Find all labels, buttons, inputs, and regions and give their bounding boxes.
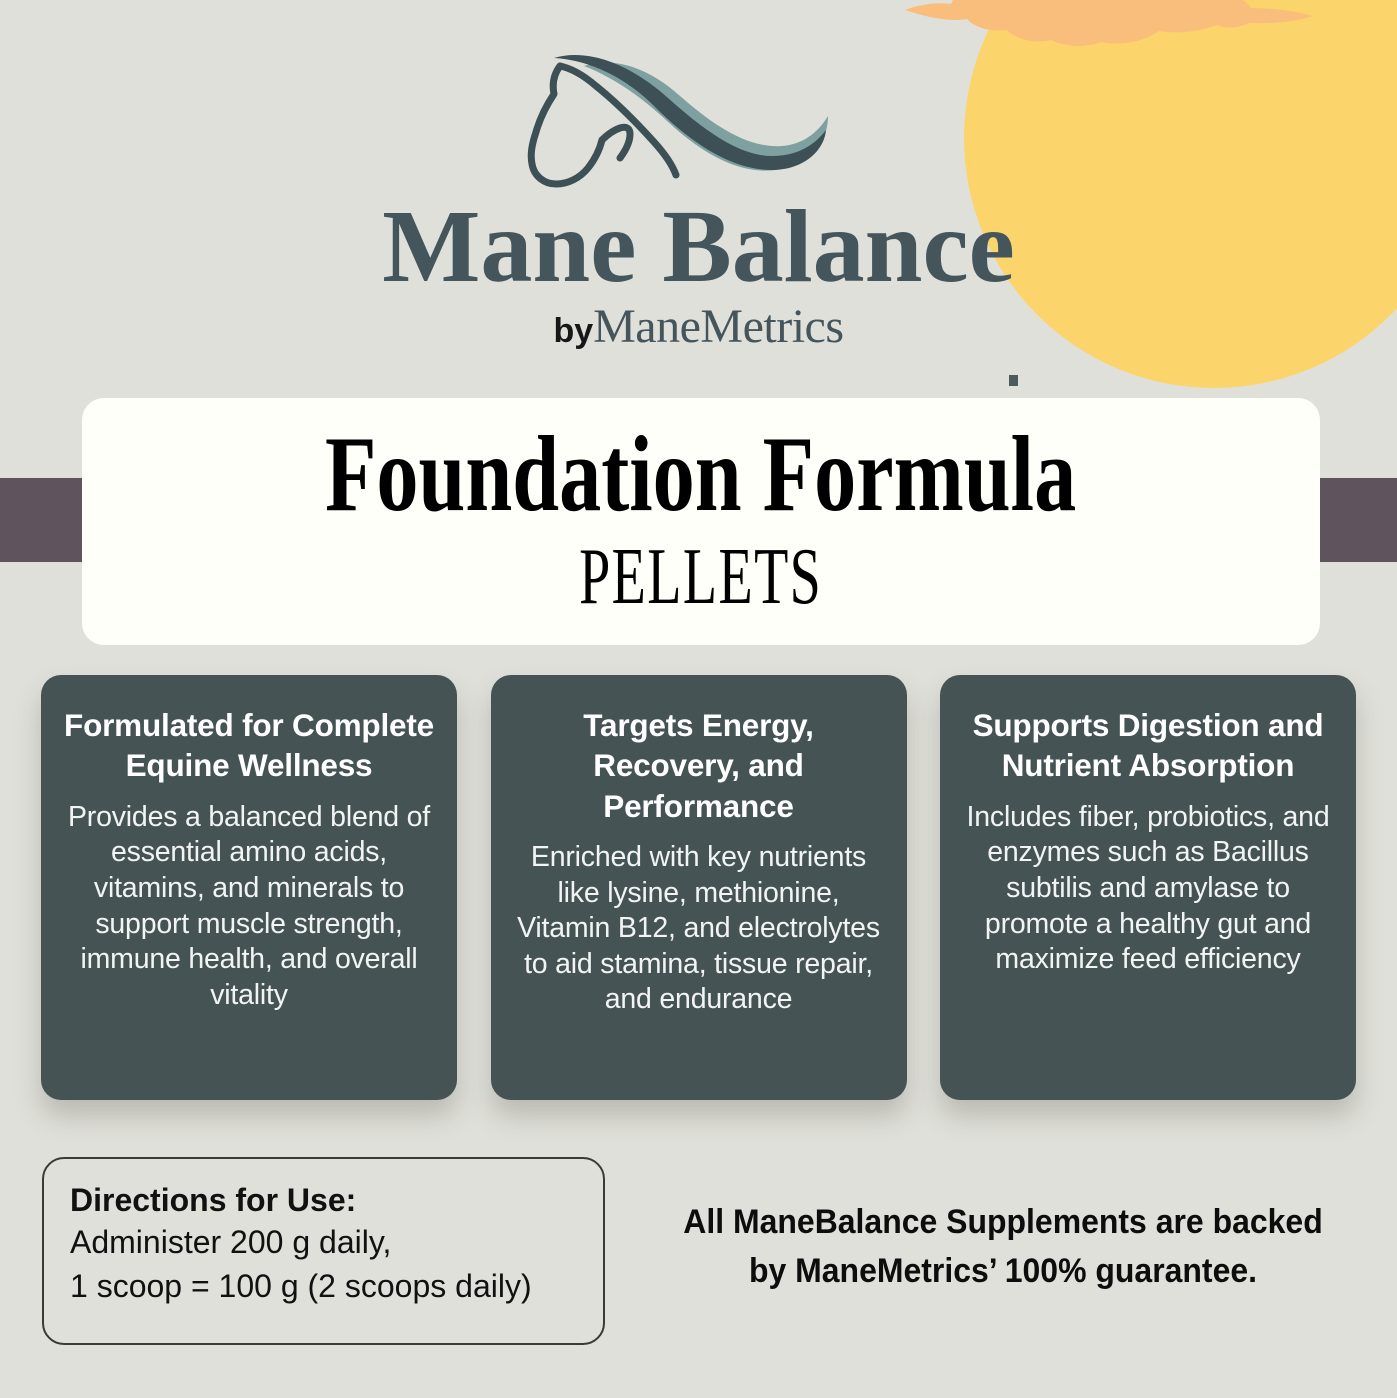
feature-card: Targets Energy, Recovery, and Performanc…	[491, 675, 907, 1100]
feature-card-title: Formulated for Complete Equine Wellness	[63, 705, 435, 786]
brand-subtitle: byManeMetrics	[0, 303, 1397, 351]
directions-line-1: Administer 200 g daily,	[70, 1221, 577, 1265]
feature-card-body: Provides a balanced blend of essential a…	[63, 800, 435, 1014]
decorative-tick-mark	[1009, 375, 1018, 386]
guarantee-line-2: by ManeMetrics’ 100% guarantee.	[669, 1247, 1336, 1296]
brand-by-word: by	[553, 312, 593, 350]
feature-card-body: Includes fiber, probiotics, and enzymes …	[962, 800, 1334, 978]
horse-head-mane-icon	[484, 48, 914, 193]
directions-for-use-box: Directions for Use: Administer 200 g dai…	[42, 1157, 605, 1345]
brand-parent-name: ManeMetrics	[593, 300, 843, 353]
directions-heading: Directions for Use:	[70, 1179, 577, 1221]
feature-card-title: Supports Digestion and Nutrient Absorpti…	[962, 705, 1334, 786]
feature-card: Formulated for Complete Equine Wellness …	[41, 675, 457, 1100]
directions-line-2: 1 scoop = 100 g (2 scoops daily)	[70, 1265, 577, 1309]
feature-card-body: Enriched with key nutrients like lysine,…	[513, 840, 885, 1018]
product-form-label: PELLETS	[579, 537, 822, 617]
guarantee-statement: All ManeBalance Supplements are backed b…	[669, 1198, 1336, 1297]
guarantee-line-1: All ManeBalance Supplements are backed	[669, 1198, 1336, 1247]
product-title: Foundation Formula	[325, 420, 1076, 530]
title-banner: Foundation Formula PELLETS	[82, 398, 1320, 645]
brand-name: Mane Balance	[0, 195, 1397, 299]
feature-card-title: Targets Energy, Recovery, and Performanc…	[513, 705, 885, 826]
feature-card-row: Formulated for Complete Equine Wellness …	[41, 675, 1356, 1100]
product-label-canvas: Mane Balance byManeMetrics Foundation Fo…	[0, 0, 1397, 1398]
brand-logo-block: Mane Balance byManeMetrics	[0, 48, 1397, 351]
feature-card: Supports Digestion and Nutrient Absorpti…	[940, 675, 1356, 1100]
